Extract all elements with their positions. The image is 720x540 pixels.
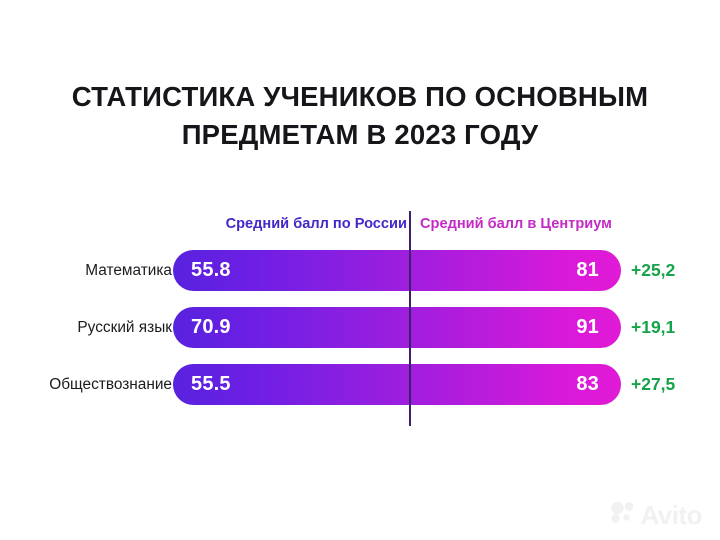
bar-value-centrium-social-studies: 83 xyxy=(576,364,599,405)
avito-circles-icon xyxy=(610,501,636,528)
legend-divider-line xyxy=(409,211,411,426)
row-label-russian-language: Русский язык xyxy=(0,307,172,348)
row-label-mathematics: Математика xyxy=(0,250,172,291)
chart-legend: Средний балл по России Средний балл в Це… xyxy=(0,212,720,236)
legend-label-russia: Средний балл по России xyxy=(226,212,407,236)
row-label-social-studies: Обществознание xyxy=(0,364,172,405)
bar-mathematics: 55.8 81 xyxy=(173,250,621,291)
delta-mathematics: +25,2 xyxy=(631,250,675,291)
bar-value-centrium-mathematics: 81 xyxy=(576,250,599,291)
bar-value-russia-social-studies: 55.5 xyxy=(191,364,231,405)
avito-wordmark: Avito xyxy=(640,502,702,528)
bar-russian-language: 70.9 91 xyxy=(173,307,621,348)
chart-row: Математика 55.8 81 +25,2 xyxy=(0,250,720,291)
delta-russian-language: +19,1 xyxy=(631,307,675,348)
chart-row: Обществознание 55.5 83 +27,5 xyxy=(0,364,720,405)
legend-label-centrium: Средний балл в Центриум xyxy=(420,212,612,236)
chart-row: Русский язык 70.9 91 +19,1 xyxy=(0,307,720,348)
comparison-bar-chart: Средний балл по России Средний балл в Це… xyxy=(0,0,720,540)
bar-value-russia-mathematics: 55.8 xyxy=(191,250,231,291)
avito-watermark: Avito xyxy=(610,501,702,528)
bar-value-russia-russian-language: 70.9 xyxy=(191,307,231,348)
bar-value-centrium-russian-language: 91 xyxy=(576,307,599,348)
delta-social-studies: +27,5 xyxy=(631,364,675,405)
bar-social-studies: 55.5 83 xyxy=(173,364,621,405)
